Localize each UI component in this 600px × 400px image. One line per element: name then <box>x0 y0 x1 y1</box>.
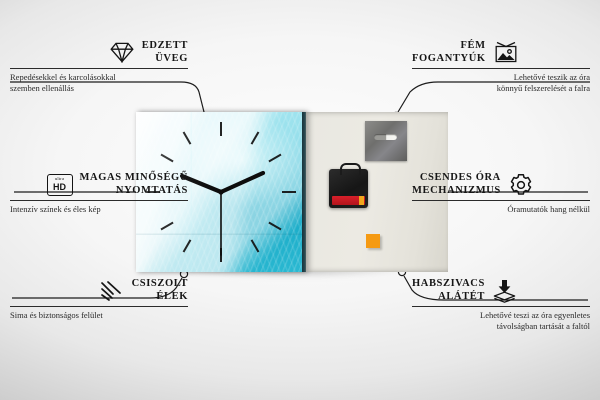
feature-polished-edges: CSISZOLT ÉLEK Sima és biztonságos felüle… <box>10 278 188 321</box>
battery-terminal <box>359 196 364 205</box>
picture-hanger-icon <box>493 41 519 65</box>
feature-divider <box>10 68 188 69</box>
feature-header: CSISZOLT ÉLEK <box>10 278 188 303</box>
metal-hanger-part <box>365 121 407 161</box>
feature-description: Sima és biztonságos felület <box>10 310 188 321</box>
feature-divider <box>10 200 188 201</box>
feature-header: FÉM FOGANTYÚK <box>412 40 590 65</box>
feature-foam-backing: HABSZIVACS ALÁTÉT Lehetővé teszi az óra … <box>412 278 590 331</box>
foam-pad-part <box>366 234 380 248</box>
mechanism-loop <box>340 163 361 175</box>
feature-description: Intenzív színek és éles kép <box>10 204 188 215</box>
feature-header: ultra HD MAGAS MINŐSÉGŰ NYOMTATÁS <box>10 172 188 197</box>
clock-center-cap <box>218 189 223 194</box>
feature-header: CSENDES ÓRA MECHANIZMUS <box>412 172 590 197</box>
infographic-canvas: EDZETT ÜVEG Repedésekkel és karcolásokka… <box>0 0 600 400</box>
feature-header: EDZETT ÜVEG <box>10 40 188 65</box>
feature-divider <box>412 306 590 307</box>
feature-description: Lehetővé teszik az óra könnyű felszerelé… <box>412 72 590 93</box>
feature-description: Óramutatók hang nélkül <box>412 204 590 215</box>
clock-mechanism-part <box>329 169 368 208</box>
foam-pad-icon <box>492 279 518 303</box>
feature-header: HABSZIVACS ALÁTÉT <box>412 278 590 303</box>
diamond-icon <box>109 41 135 65</box>
gear-icon <box>508 173 534 197</box>
feature-divider <box>412 200 590 201</box>
feature-metal-handles: FÉM FOGANTYÚK Lehetővé teszik az óra kön… <box>412 40 590 93</box>
feature-title: EDZETT ÜVEG <box>142 40 188 65</box>
polished-edges-icon <box>99 279 125 303</box>
feature-description: Repedésekkel és karcolásokkal szemben el… <box>10 72 188 93</box>
feature-divider <box>412 68 590 69</box>
feature-silent-mechanism: CSENDES ÓRA MECHANIZMUS Óramutatók hang … <box>412 172 590 215</box>
battery-part <box>332 196 365 205</box>
feature-title: CSENDES ÓRA MECHANIZMUS <box>412 172 501 197</box>
feature-title: FÉM FOGANTYÚK <box>412 40 486 65</box>
ultra-hd-main-label: HD <box>53 183 66 192</box>
feature-title: HABSZIVACS ALÁTÉT <box>412 278 485 303</box>
hanger-slot <box>374 134 397 140</box>
feature-high-quality-print: ultra HD MAGAS MINŐSÉGŰ NYOMTATÁS Intenz… <box>10 172 188 215</box>
ultra-hd-icon: ultra HD <box>47 173 73 197</box>
feature-description: Lehetővé teszi az óra egyenletes távolsá… <box>412 310 590 331</box>
feature-title: MAGAS MINŐSÉGŰ NYOMTATÁS <box>80 172 188 197</box>
feature-tempered-glass: EDZETT ÜVEG Repedésekkel és karcolásokka… <box>10 40 188 93</box>
feature-divider <box>10 306 188 307</box>
feature-title: CSISZOLT ÉLEK <box>132 278 188 303</box>
clock-hour-hand <box>221 173 263 192</box>
